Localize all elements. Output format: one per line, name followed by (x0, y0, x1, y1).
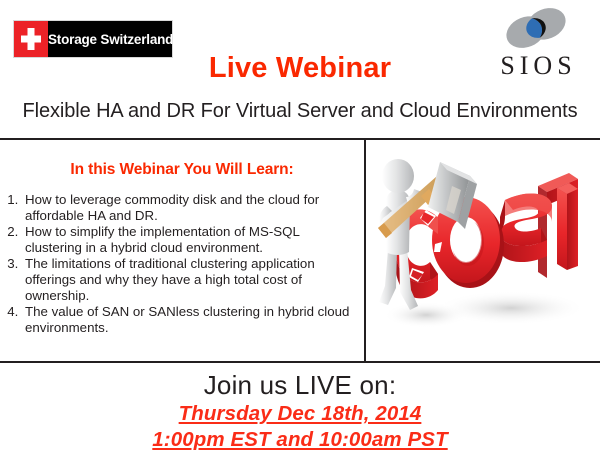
footer: Join us LIVE on: Thursday Dec 18th, 2014… (0, 363, 600, 450)
sios-overlapping-circles-icon (494, 6, 578, 50)
learn-panel: In this Webinar You Will Learn: How to l… (0, 140, 364, 361)
learn-heading: In this Webinar You Will Learn: (0, 161, 364, 179)
learn-list: How to leverage commodity disk and the c… (0, 192, 364, 336)
webinar-time: 1:00pm EST and 10:00am PST (0, 427, 600, 453)
list-item: The value of SAN or SANless clustering i… (22, 304, 358, 336)
list-item: How to simplify the implementation of MS… (22, 224, 358, 256)
cost-graphic-panel (366, 140, 600, 361)
header: Storage Switzerland, LLC SIOS Live Webin… (0, 0, 600, 138)
webinar-date: Thursday Dec 18th, 2014 (0, 401, 600, 427)
man-smashing-cost-icon (366, 140, 600, 361)
list-item: How to leverage commodity disk and the c… (22, 192, 358, 224)
join-live-label: Join us LIVE on: (0, 370, 600, 401)
page-title: Live Webinar (0, 52, 600, 85)
list-item: The limitations of traditional clusterin… (22, 256, 358, 303)
main-content: In this Webinar You Will Learn: How to l… (0, 140, 600, 361)
page-subtitle: Flexible HA and DR For Virtual Server an… (0, 100, 600, 123)
